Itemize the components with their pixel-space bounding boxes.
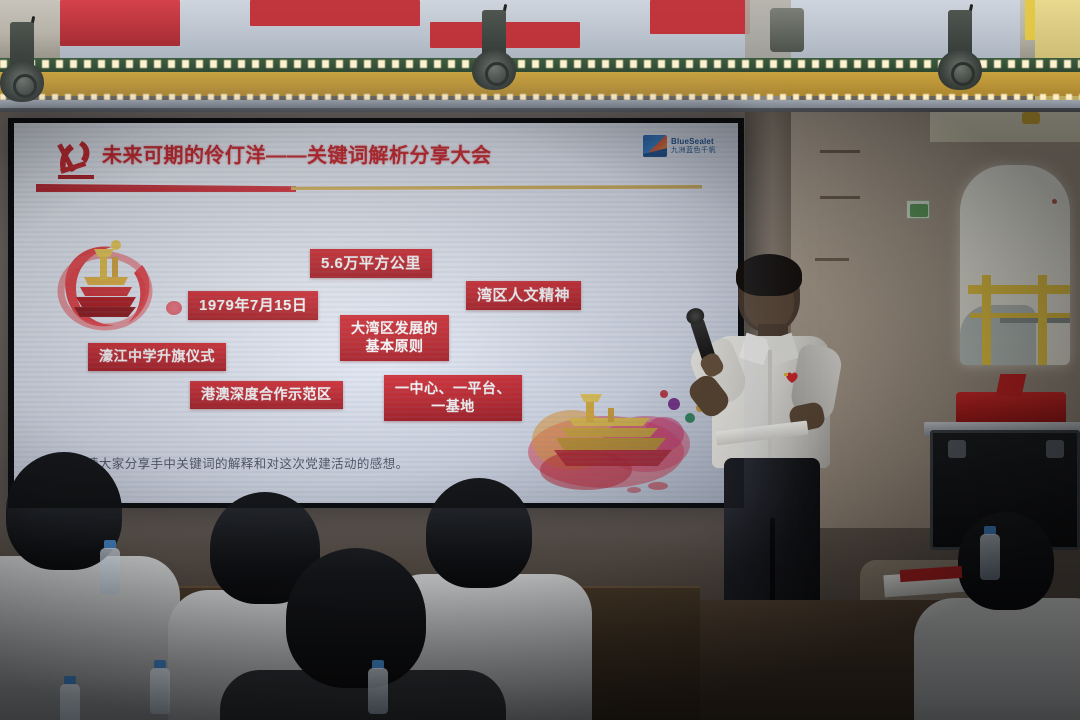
bottle-body (368, 668, 388, 714)
presentation-scene: 未来可期的伶仃洋——关键词解析分享大会 BlueSealet 九洲蓝色千帆 (0, 0, 1080, 720)
ceiling-led-strip (0, 60, 1080, 68)
blue-orange-sail-icon (643, 135, 667, 157)
keyword-label: 一中心、一平台、 一基地 (384, 375, 522, 421)
brand-name: BlueSealet (671, 138, 716, 146)
ink-dot-decoration (166, 301, 182, 315)
keyword-label: 濠江中学升旗仪式 (88, 343, 226, 371)
flight-case-latch (948, 440, 966, 458)
projected-slide: 未来可期的伶仃洋——关键词解析分享大会 BlueSealet 九洲蓝色千帆 (14, 123, 738, 503)
ceiling-banner (250, 0, 420, 26)
bottle-body (980, 534, 1000, 580)
deck-machinery (960, 305, 1036, 365)
wall-trim (820, 150, 860, 153)
title-divider (36, 183, 702, 192)
ceiling-banner (60, 0, 180, 46)
keyword-label: 大湾区发展的 基本原则 (340, 315, 449, 361)
brand-subtitle: 九洲蓝色千帆 (671, 147, 716, 154)
deck-bar (1000, 315, 1070, 323)
bottle-body (60, 684, 80, 720)
presenter-hair (736, 254, 802, 296)
presenter-shirt-placket (768, 350, 772, 458)
audience-head (286, 548, 426, 688)
keyword-label: 湾区人文精神 (466, 281, 581, 310)
railing-post (1038, 275, 1047, 365)
keyword-label: 1979年7月15日 (188, 291, 318, 320)
railing-post (982, 275, 991, 365)
projection-screen-frame: 未来可期的伶仃洋——关键词解析分享大会 BlueSealet 九洲蓝色千帆 (8, 118, 744, 508)
bottle-body (100, 548, 120, 594)
wall-trim (820, 196, 860, 199)
party-badge-icon (784, 370, 800, 384)
audience-head (958, 512, 1054, 610)
ceiling-banner (650, 0, 750, 34)
light-head (0, 62, 44, 102)
bottle-body (150, 668, 170, 714)
audience-shoulders (914, 598, 1080, 720)
keyword-label: 港澳深度合作示范区 (190, 381, 343, 409)
ceiling-gold-beam (0, 72, 1080, 96)
upper-wall-strip (930, 108, 1080, 142)
brand-logo: BlueSealet 九洲蓝色千帆 (643, 135, 716, 157)
red-ink-circle-tiananmen-icon (46, 235, 164, 339)
divider-red-segment (36, 184, 296, 192)
flight-case-latch (1046, 440, 1064, 458)
slide-title: 未来可期的伶仃洋——关键词解析分享大会 (102, 139, 492, 168)
hammer-sickle-icon (52, 135, 98, 179)
wall-trim (815, 258, 849, 261)
slide-caption: 请大家分享手中关键词的解释和对这次党建活动的感想。 (86, 453, 409, 472)
watercolor-splash-tiananmen-icon (514, 378, 714, 498)
audience-head (426, 478, 532, 588)
ceiling-band (0, 0, 1080, 112)
brand-logo-text: BlueSealet 九洲蓝色千帆 (671, 138, 716, 154)
ceiling-lower-edge (0, 100, 1080, 112)
light-head (472, 50, 516, 90)
divider-gold-segment (291, 185, 702, 190)
ceiling-speaker-box (770, 8, 804, 52)
keyword-label: 5.6万平方公里 (310, 249, 432, 278)
light-head (938, 50, 982, 90)
window-marker (1052, 199, 1057, 204)
ship-window (960, 165, 1070, 365)
green-safety-sign-icon (906, 200, 930, 219)
